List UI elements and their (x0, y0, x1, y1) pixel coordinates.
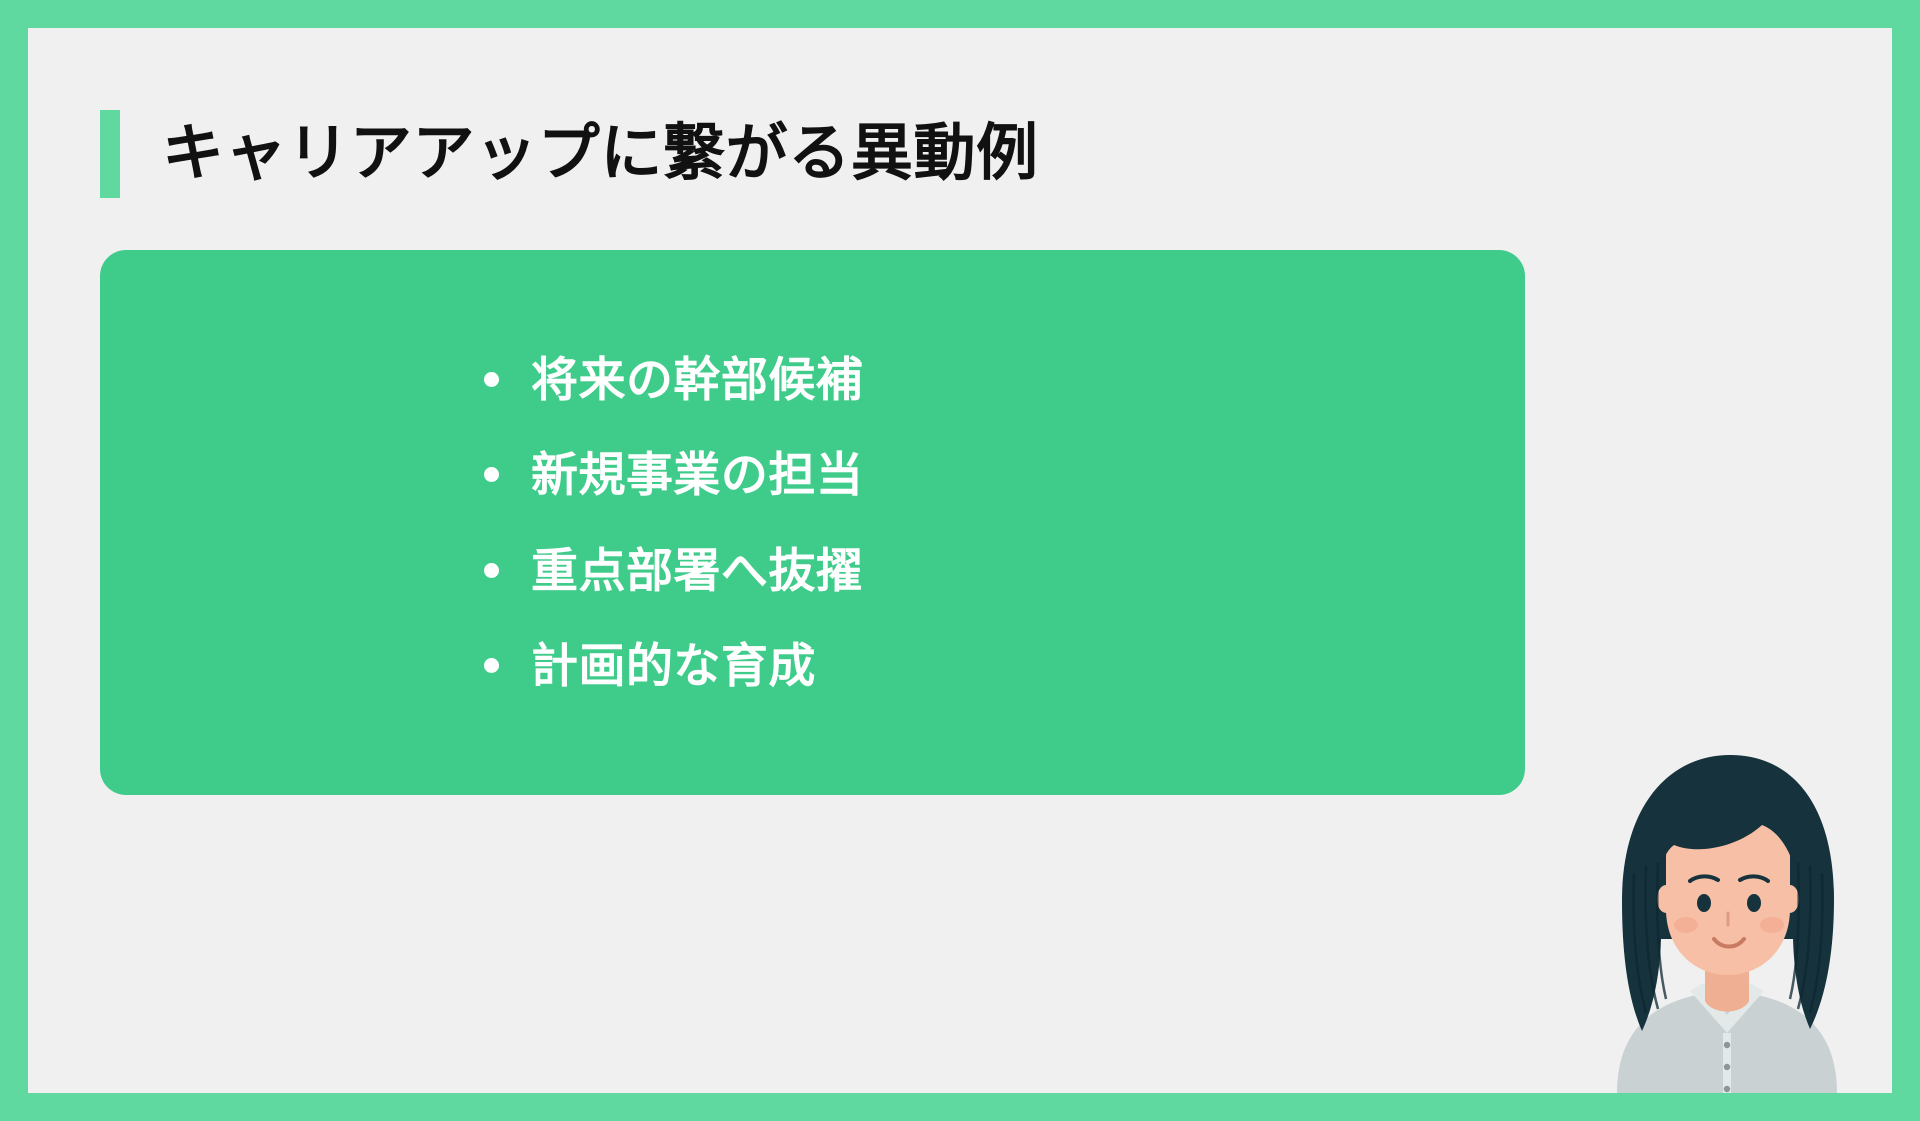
bullet-dot-icon (484, 467, 499, 482)
list-item-label: 将来の幹部候補 (531, 355, 863, 404)
slide-canvas: キャリアアップに繋がる異動例 将来の幹部候補 新規事業の担当 重点部署へ抜擢 (28, 28, 1892, 1093)
list-item: 計画的な育成 (484, 641, 816, 690)
list-item-label: 重点部署へ抜擢 (531, 546, 863, 595)
list-item: 将来の幹部候補 (484, 355, 863, 404)
bullet-dot-icon (484, 563, 499, 578)
shirt-shape (1617, 983, 1837, 1093)
slide: キャリアアップに繋がる異動例 将来の幹部候補 新規事業の担当 重点部署へ抜擢 (0, 0, 1920, 1121)
list-item: 新規事業の担当 (484, 450, 863, 499)
title-accent-bar (100, 110, 120, 198)
list-item: 重点部署へ抜擢 (484, 546, 863, 595)
bullet-dot-icon (484, 658, 499, 673)
content-card: 将来の幹部候補 新規事業の担当 重点部署へ抜擢 計画的な育成 (100, 250, 1525, 795)
list-item-label: 計画的な育成 (531, 641, 816, 690)
bullet-dot-icon (484, 372, 499, 387)
list-item-label: 新規事業の担当 (531, 450, 863, 499)
bullet-list: 将来の幹部候補 新規事業の担当 重点部署へ抜擢 計画的な育成 (100, 250, 1525, 795)
title-label: キャリアアップに繋がる異動例 (162, 123, 1039, 185)
woman-illustration (1562, 733, 1892, 1093)
page-title: キャリアアップに繋がる異動例 (100, 108, 1039, 200)
